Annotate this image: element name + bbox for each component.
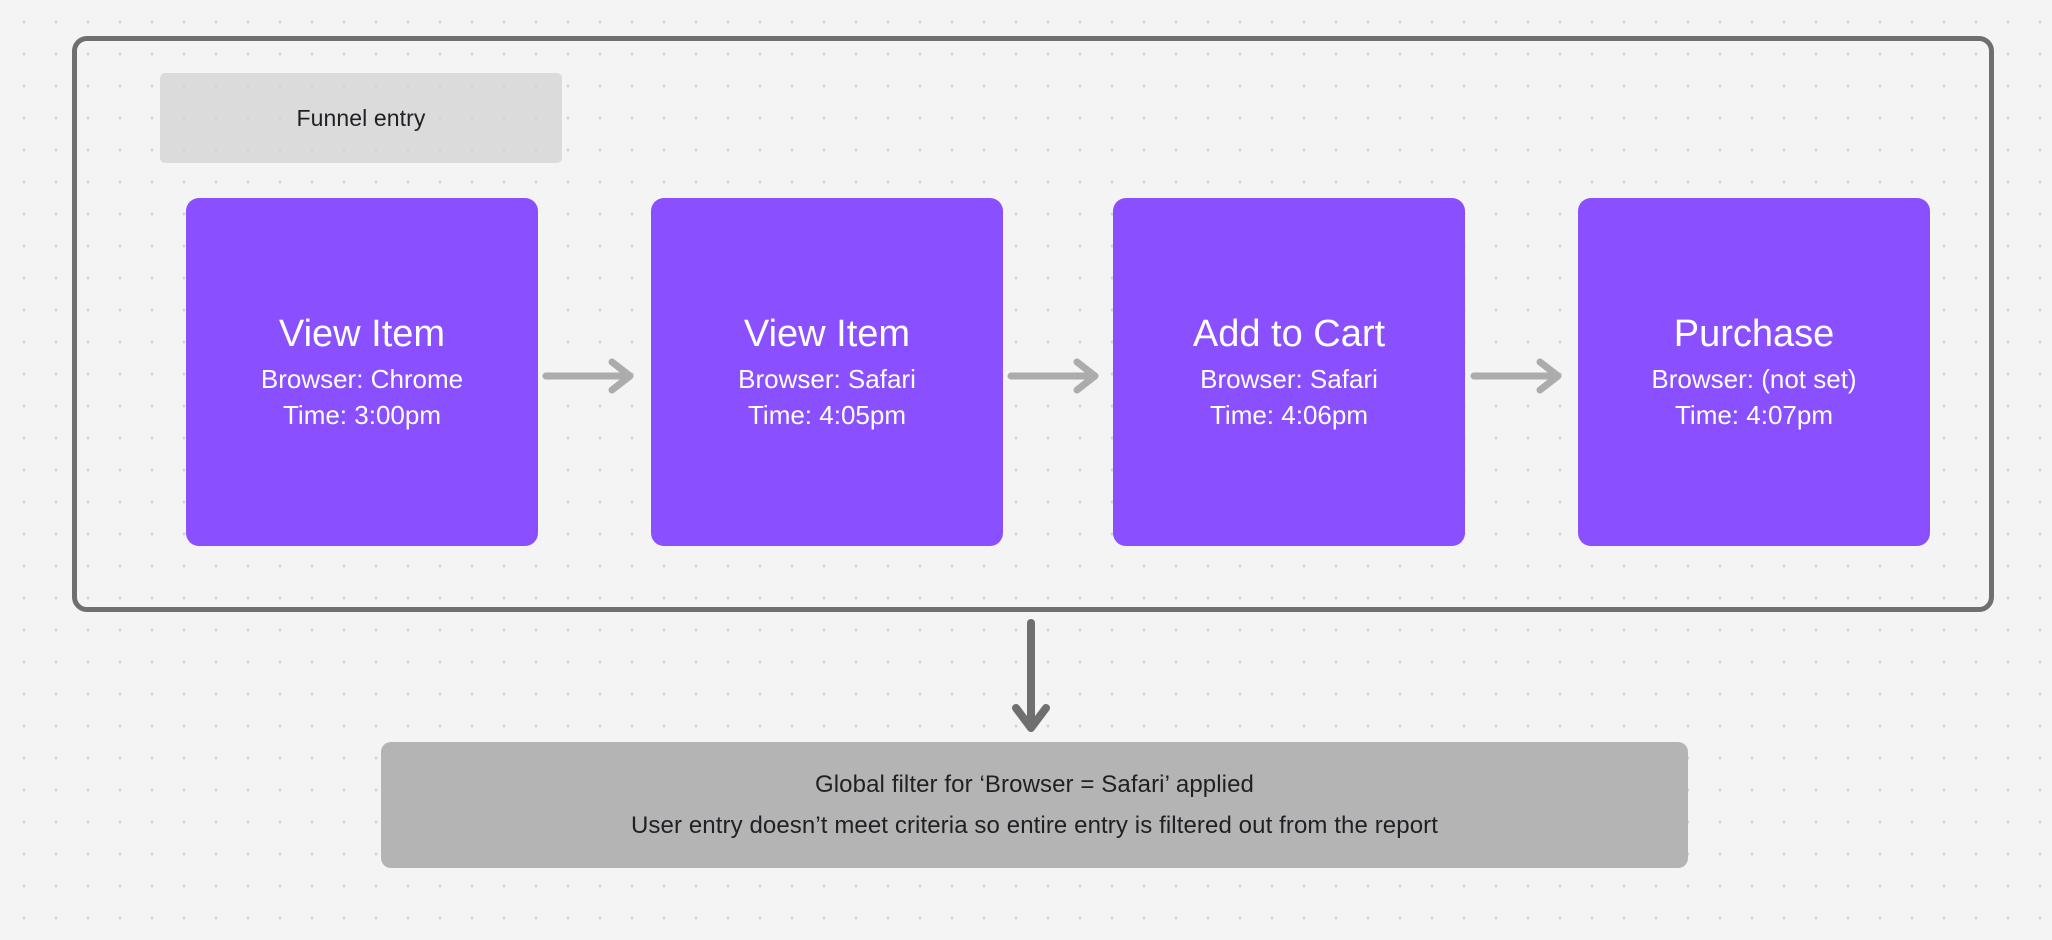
step-time: Time: 3:00pm <box>283 397 441 433</box>
arrow-right-icon <box>542 358 638 394</box>
step-time: Time: 4:06pm <box>1210 397 1368 433</box>
step-time: Time: 4:05pm <box>748 397 906 433</box>
funnel-step-card[interactable]: View Item Browser: Chrome Time: 3:00pm <box>186 198 538 546</box>
funnel-step-card[interactable]: View Item Browser: Safari Time: 4:05pm <box>651 198 1003 546</box>
step-browser: Browser: (not set) <box>1651 361 1856 397</box>
step-browser: Browser: Safari <box>1200 361 1378 397</box>
arrow-right-icon <box>1470 358 1566 394</box>
step-title: Add to Cart <box>1193 311 1385 357</box>
step-title: View Item <box>279 311 445 357</box>
filter-note-line-2: User entry doesn’t meet criteria so enti… <box>631 805 1438 846</box>
funnel-step-card[interactable]: Add to Cart Browser: Safari Time: 4:06pm <box>1113 198 1465 546</box>
step-title: View Item <box>744 311 910 357</box>
filter-note-line-1: Global filter for ‘Browser = Safari’ app… <box>815 764 1254 805</box>
diagram-canvas: Funnel entry View Item Browser: Chrome T… <box>0 0 2052 940</box>
step-browser: Browser: Chrome <box>261 361 463 397</box>
filter-note-box: Global filter for ‘Browser = Safari’ app… <box>381 742 1688 868</box>
arrow-right-icon <box>1007 358 1103 394</box>
funnel-entry-label-text: Funnel entry <box>296 105 425 132</box>
step-browser: Browser: Safari <box>738 361 916 397</box>
step-time: Time: 4:07pm <box>1675 397 1833 433</box>
step-title: Purchase <box>1674 311 1835 357</box>
funnel-step-card[interactable]: Purchase Browser: (not set) Time: 4:07pm <box>1578 198 1930 546</box>
funnel-entry-label: Funnel entry <box>160 73 562 163</box>
arrow-down-icon <box>1011 618 1051 736</box>
